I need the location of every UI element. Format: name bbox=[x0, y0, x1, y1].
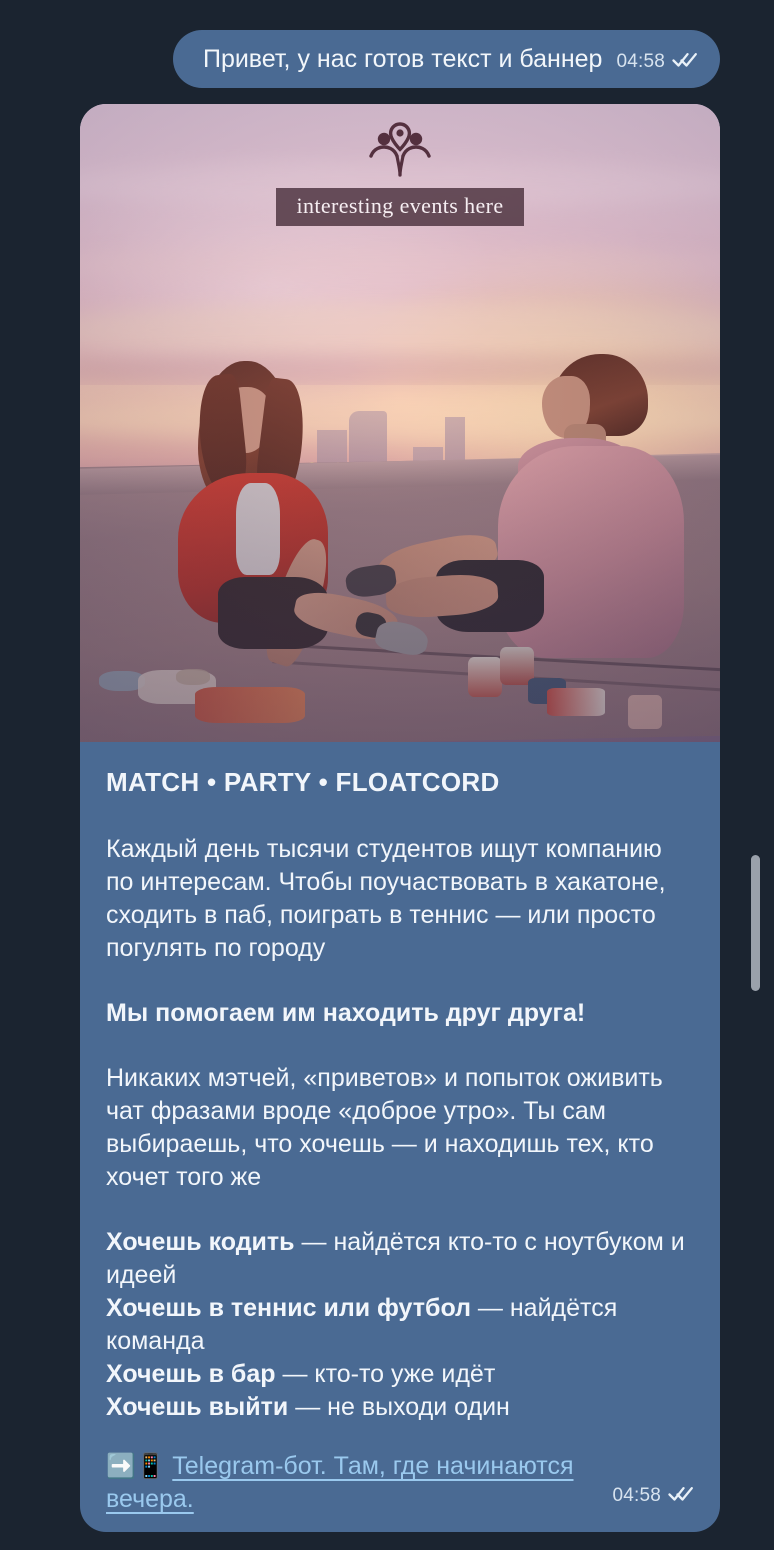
people-location-pin-icon bbox=[369, 122, 431, 178]
telegram-bot-link[interactable]: Telegram-бот. Там, где начинаются вечера… bbox=[106, 1452, 574, 1513]
litter-item bbox=[176, 669, 210, 685]
snack-cup bbox=[628, 695, 662, 729]
chat-message-list[interactable]: Привет, у нас готов текст и баннер 04:58 bbox=[0, 0, 774, 1550]
vertical-scrollbar[interactable] bbox=[751, 855, 760, 991]
double-check-icon bbox=[668, 1479, 694, 1512]
caption-title: MATCH • PARTY • FLOATCORD bbox=[106, 766, 694, 799]
message-row-media: interesting events here MATCH • PARTY • … bbox=[0, 104, 774, 1532]
banner-branding: interesting events here bbox=[80, 122, 720, 226]
list-item: Хочешь кодить — найдётся кто-то с ноутбу… bbox=[106, 1226, 694, 1292]
right-arrow-emoji: ➡️ bbox=[106, 1453, 136, 1480]
list-item: Хочешь в теннис или футбол — найдётся ко… bbox=[106, 1292, 694, 1358]
cloud-band bbox=[80, 244, 720, 284]
list-item: Хочешь выйти — не выходи один bbox=[106, 1391, 694, 1424]
snack-box bbox=[547, 688, 605, 716]
mobile-phone-emoji: 📱 bbox=[136, 1453, 166, 1480]
list-item-bold: Хочешь в бар bbox=[106, 1360, 276, 1388]
message-time: 04:58 bbox=[612, 1479, 661, 1512]
message-time: 04:58 bbox=[616, 51, 665, 73]
message-meta: 04:58 bbox=[616, 51, 698, 74]
caption-feature-list: Хочешь кодить — найдётся кто-то с ноутбу… bbox=[106, 1226, 694, 1424]
message-bubble-short[interactable]: Привет, у нас готов текст и баннер 04:58 bbox=[173, 30, 720, 88]
list-item-bold: Хочешь кодить bbox=[106, 1228, 295, 1256]
list-item-bold: Хочешь выйти bbox=[106, 1393, 288, 1421]
message-bubble-media[interactable]: interesting events here MATCH • PARTY • … bbox=[80, 104, 720, 1532]
banner-photo[interactable]: interesting events here bbox=[80, 104, 720, 742]
message-caption: MATCH • PARTY • FLOATCORD Каждый день ты… bbox=[80, 742, 720, 1532]
caption-paragraph-2: Мы помогаем им находить друг друга! bbox=[106, 997, 694, 1030]
banner-label: interesting events here bbox=[276, 188, 523, 226]
message-text: Привет, у нас готов текст и баннер bbox=[203, 44, 602, 74]
snack-wrapper bbox=[195, 687, 305, 723]
drink-can bbox=[468, 657, 502, 697]
person-girl bbox=[170, 361, 390, 691]
cloud-band bbox=[80, 302, 720, 358]
caption-footer: ➡️📱 Telegram-бот. Там, где начинаются ве… bbox=[106, 1450, 694, 1516]
double-check-icon bbox=[672, 51, 698, 74]
caption-paragraph-3: Никаких мэтчей, «приветов» и попыток ожи… bbox=[106, 1062, 694, 1194]
message-meta: 04:58 bbox=[612, 1479, 694, 1516]
caption-paragraph-1: Каждый день тысячи студентов ищут компан… bbox=[106, 833, 694, 965]
list-item-rest: — кто-то уже идёт bbox=[276, 1360, 496, 1388]
person-boy bbox=[454, 354, 694, 704]
message-row-short: Привет, у нас готов текст и баннер 04:58 bbox=[0, 30, 774, 88]
list-item: Хочешь в бар — кто-то уже идёт bbox=[106, 1358, 694, 1391]
list-item-rest: — не выходи один bbox=[288, 1393, 510, 1421]
list-item-bold: Хочешь в теннис или футбол bbox=[106, 1294, 471, 1322]
caption-link-wrap[interactable]: ➡️📱 Telegram-бот. Там, где начинаются ве… bbox=[106, 1450, 596, 1516]
